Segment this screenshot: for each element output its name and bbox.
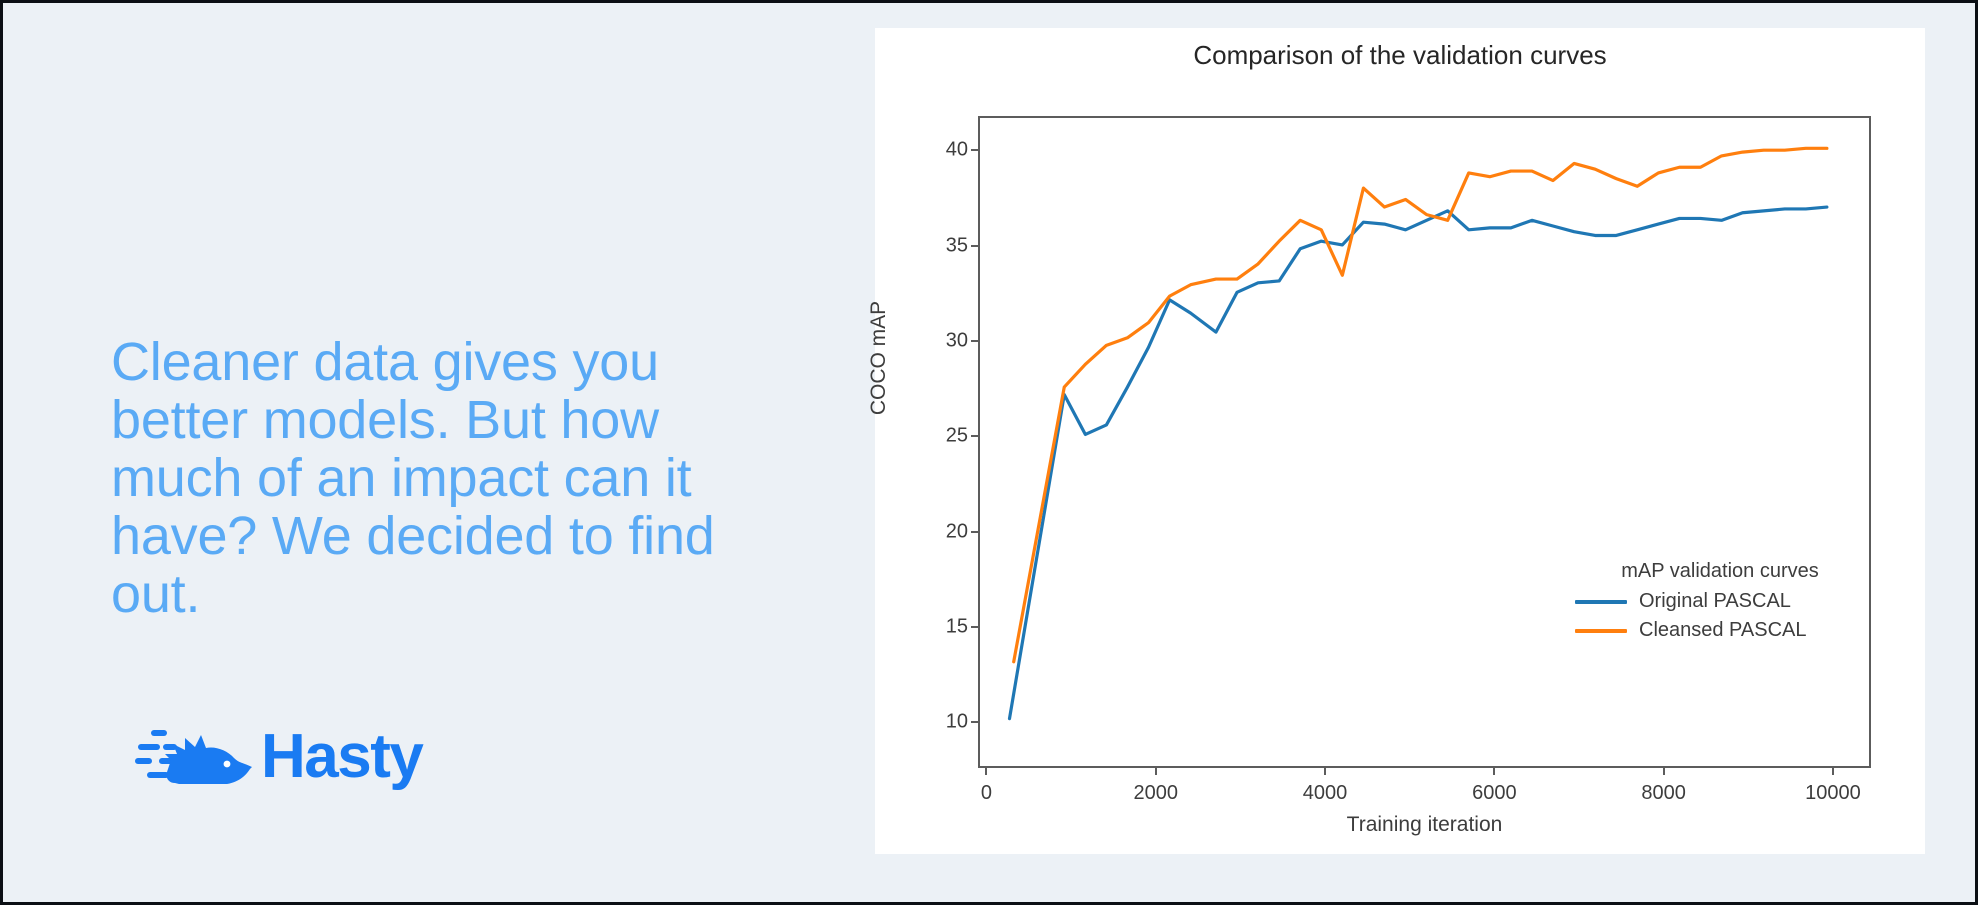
y-tick-mark (971, 340, 978, 342)
y-tick-label: 35 (916, 234, 968, 257)
legend-title: mAP validation curves (1575, 560, 1875, 583)
x-tick-mark (1663, 768, 1665, 775)
left-panel: Cleaner data gives you better models. Bu… (3, 3, 873, 905)
slide-canvas: Cleaner data gives you better models. Bu… (0, 0, 1978, 905)
legend-label-original: Original PASCAL (1639, 590, 1791, 613)
x-axis-label: Training iteration (978, 813, 1871, 837)
headline-text: Cleaner data gives you better models. Bu… (111, 333, 801, 623)
y-tick-label: 15 (916, 615, 968, 638)
y-tick-mark (971, 435, 978, 437)
y-tick-label: 25 (916, 425, 968, 448)
chart-legend: mAP validation curves Original PASCAL Cl… (1575, 560, 1875, 648)
legend-label-cleansed: Cleansed PASCAL (1639, 619, 1807, 642)
y-tick-mark (971, 149, 978, 151)
x-tick-mark (1493, 768, 1495, 775)
y-tick-label: 40 (916, 139, 968, 162)
x-tick-mark (1324, 768, 1326, 775)
x-tick-label: 2000 (1134, 782, 1179, 805)
legend-swatch-cleansed (1575, 629, 1627, 633)
y-tick-mark (971, 721, 978, 723)
plot-lines-svg (980, 118, 1869, 766)
legend-swatch-original (1575, 600, 1627, 604)
x-tick-label: 10000 (1805, 782, 1861, 805)
legend-item-original: Original PASCAL (1575, 590, 1875, 613)
y-tick-label: 20 (916, 520, 968, 543)
plot-area (978, 116, 1871, 768)
x-tick-label: 4000 (1303, 782, 1348, 805)
y-tick-mark (971, 245, 978, 247)
x-tick-mark (1832, 768, 1834, 775)
x-tick-mark (985, 768, 987, 775)
x-tick-mark (1155, 768, 1157, 775)
y-tick-label: 30 (916, 329, 968, 352)
chart-card: Comparison of the validation curves 1015… (875, 28, 1925, 854)
y-tick-mark (971, 626, 978, 628)
y-axis-label: COCO mAP (867, 301, 891, 415)
x-tick-label: 8000 (1641, 782, 1686, 805)
y-tick-mark (971, 531, 978, 533)
legend-item-cleansed: Cleansed PASCAL (1575, 619, 1875, 642)
x-tick-label: 0 (981, 782, 992, 805)
x-tick-label: 6000 (1472, 782, 1517, 805)
hedgehog-logo-icon (135, 720, 253, 794)
chart-title: Comparison of the validation curves (875, 40, 1925, 71)
brand-logo: Hasty (135, 715, 455, 799)
y-tick-label: 10 (916, 711, 968, 734)
brand-wordmark: Hasty (261, 726, 422, 788)
